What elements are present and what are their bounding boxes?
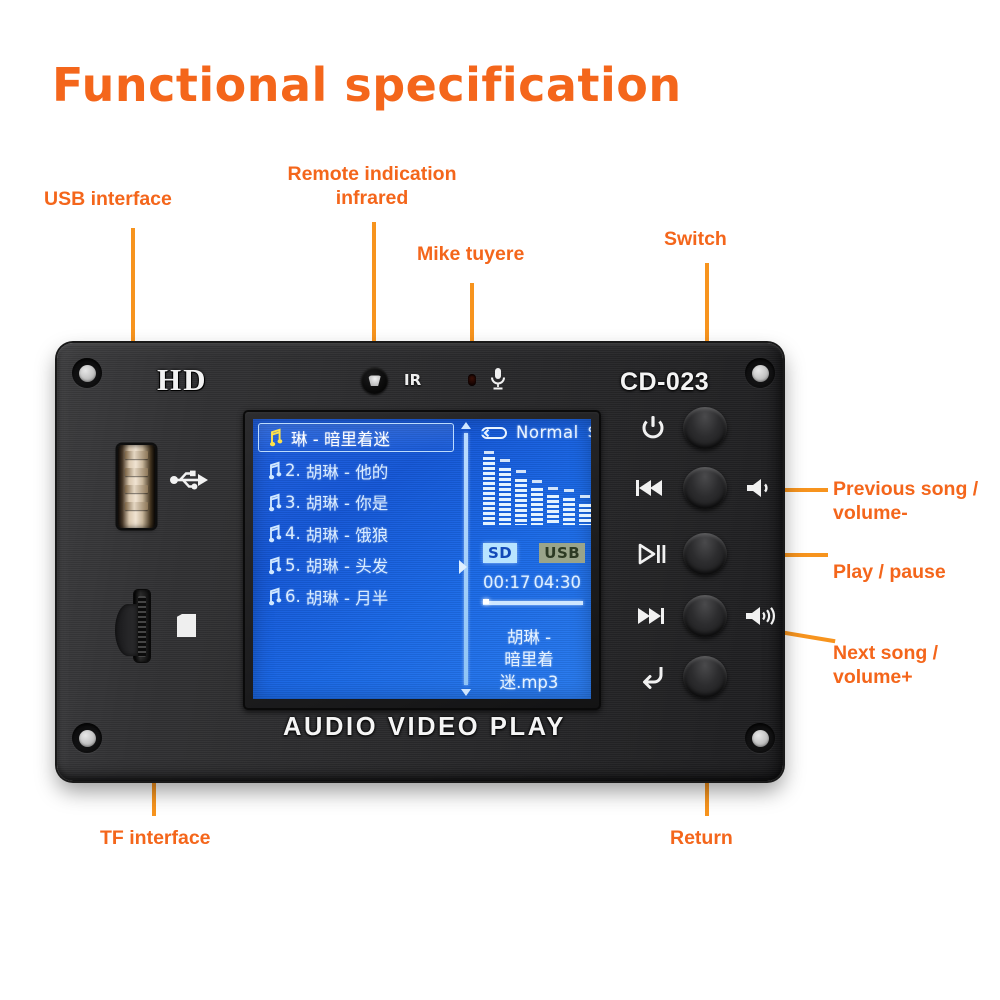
spectrum-bar: [579, 450, 591, 525]
screw-hole-bottom-right: [745, 723, 775, 753]
duration-time: 04:30: [533, 573, 581, 592]
return-button[interactable]: [683, 656, 727, 698]
power-button[interactable]: [683, 407, 727, 449]
spectrum-bar: [531, 450, 543, 525]
playlist-scrollbar[interactable]: [457, 422, 473, 696]
lcd-screen[interactable]: 琳 - 暗里着迷 2. 胡琳 - 他的: [253, 419, 591, 699]
lcd-status-bar: Normal Stereo: [475, 421, 587, 442]
power-icon: [638, 415, 668, 441]
next-track-button[interactable]: [683, 595, 727, 637]
microphone-hole: [468, 374, 476, 386]
scroll-down-arrow-icon[interactable]: [461, 689, 471, 696]
time-row: 00:17 04:30: [483, 573, 581, 592]
playlist-item-3[interactable]: 3. 胡琳 - 你是: [258, 487, 454, 519]
spectrum-bar: [499, 450, 511, 525]
playlist-item-index: 3.: [285, 493, 301, 512]
spectrum-bar: [483, 450, 495, 525]
sd-indicator-badge: SD: [483, 543, 517, 563]
previous-track-button[interactable]: [683, 467, 727, 509]
playlist-item-2[interactable]: 2. 胡琳 - 他的: [258, 455, 454, 487]
music-note-icon: [263, 493, 280, 512]
callout-mike-tuyere: Mike tuyere: [417, 243, 524, 267]
playlist-item-title: 胡琳 - 你是: [306, 490, 388, 514]
microphone-icon: [489, 367, 507, 391]
spectrum-analyzer: [483, 450, 591, 525]
lcd-info-panel: Normal Stereo SD: [475, 421, 587, 697]
playlist-item-title: 胡琳 - 他的: [306, 459, 388, 483]
playlist-item-title: 琳 - 暗里着迷: [291, 426, 390, 450]
usb-port[interactable]: [118, 445, 155, 528]
callout-tf-interface: TF interface: [100, 827, 211, 851]
play-mode-label: Normal: [516, 423, 579, 442]
playlist-item-index: 6.: [285, 587, 301, 606]
screw-hole-top-left: [72, 358, 102, 388]
scrollbar-thumb[interactable]: [459, 560, 467, 574]
screw-hole-bottom-left: [72, 723, 102, 753]
storage-indicators: SD USB: [483, 543, 585, 563]
callout-remote-ir: Remote indication infrared: [272, 163, 472, 211]
model-number: CD-023: [620, 368, 709, 397]
playlist-item-title: 胡琳 - 月半: [306, 585, 388, 609]
spectrum-bar: [515, 450, 527, 525]
scroll-up-arrow-icon[interactable]: [461, 422, 471, 429]
progress-bar-fill: [483, 599, 489, 604]
music-note-icon: [263, 556, 280, 575]
play-pause-button[interactable]: [683, 533, 727, 575]
music-note-icon: [263, 587, 280, 606]
return-arrow-icon: [637, 664, 667, 690]
callout-play-pause: Play / pause: [833, 561, 946, 585]
lcd-bezel: 琳 - 暗里着迷 2. 胡琳 - 他的: [243, 410, 601, 710]
page-title: Functional specification: [52, 58, 682, 112]
spectrum-bar: [547, 450, 559, 525]
now-playing-artist: 胡琳 -: [475, 627, 583, 649]
playlist-item-index: 5.: [285, 556, 301, 575]
playlist-item-4[interactable]: 4. 胡琳 - 饿狼: [258, 518, 454, 550]
callout-next-song: Next song / volume+: [833, 642, 938, 690]
brand-logo: HD: [157, 362, 208, 398]
playlist-item-title: 胡琳 - 饿狼: [306, 522, 388, 546]
channel-label: Stereo: [588, 425, 591, 441]
previous-track-icon: [636, 475, 666, 501]
volume-low-icon: [745, 476, 775, 500]
usb-indicator-badge: USB: [539, 543, 585, 563]
now-playing: 胡琳 - 暗里着迷.mp3: [475, 627, 583, 694]
callout-previous-song: Previous song / volume-: [833, 478, 978, 526]
ir-label: IR: [404, 371, 421, 389]
silkscreen-label: AUDIO VIDEO PLAY: [283, 713, 566, 742]
callout-return: Return: [670, 827, 733, 851]
playlist-item-1[interactable]: 琳 - 暗里着迷: [258, 423, 454, 452]
music-note-icon: [263, 461, 280, 480]
playlist[interactable]: 琳 - 暗里着迷 2. 胡琳 - 他的: [258, 423, 454, 697]
repeat-loop-icon: [481, 426, 507, 440]
playlist-item-index: 2.: [285, 461, 301, 480]
usb-icon: [170, 468, 208, 492]
callout-switch: Switch: [664, 228, 727, 252]
play-pause-icon: [637, 541, 667, 567]
playlist-item-index: 4.: [285, 524, 301, 543]
playlist-item-title: 胡琳 - 头发: [306, 553, 388, 577]
screw-hole-top-right: [745, 358, 775, 388]
volume-high-icon: [745, 604, 775, 628]
tf-card-slot[interactable]: [134, 590, 150, 662]
spectrum-bar: [563, 450, 575, 525]
elapsed-time: 00:17: [483, 573, 531, 592]
music-note-icon: [263, 524, 280, 543]
progress-bar[interactable]: [483, 601, 583, 605]
callout-usb-interface: USB interface: [44, 188, 172, 212]
diagram-canvas: Functional specification USB interface R…: [0, 0, 1000, 1000]
playlist-item-6[interactable]: 6. 胡琳 - 月半: [258, 581, 454, 613]
next-track-icon: [636, 603, 666, 629]
sd-card-icon: [177, 614, 196, 637]
playlist-item-5[interactable]: 5. 胡琳 - 头发: [258, 550, 454, 582]
now-playing-file: 暗里着迷.mp3: [475, 649, 583, 694]
ir-receiver-icon: [361, 367, 388, 394]
music-note-icon: [264, 428, 281, 447]
scrollbar-track[interactable]: [464, 433, 468, 685]
